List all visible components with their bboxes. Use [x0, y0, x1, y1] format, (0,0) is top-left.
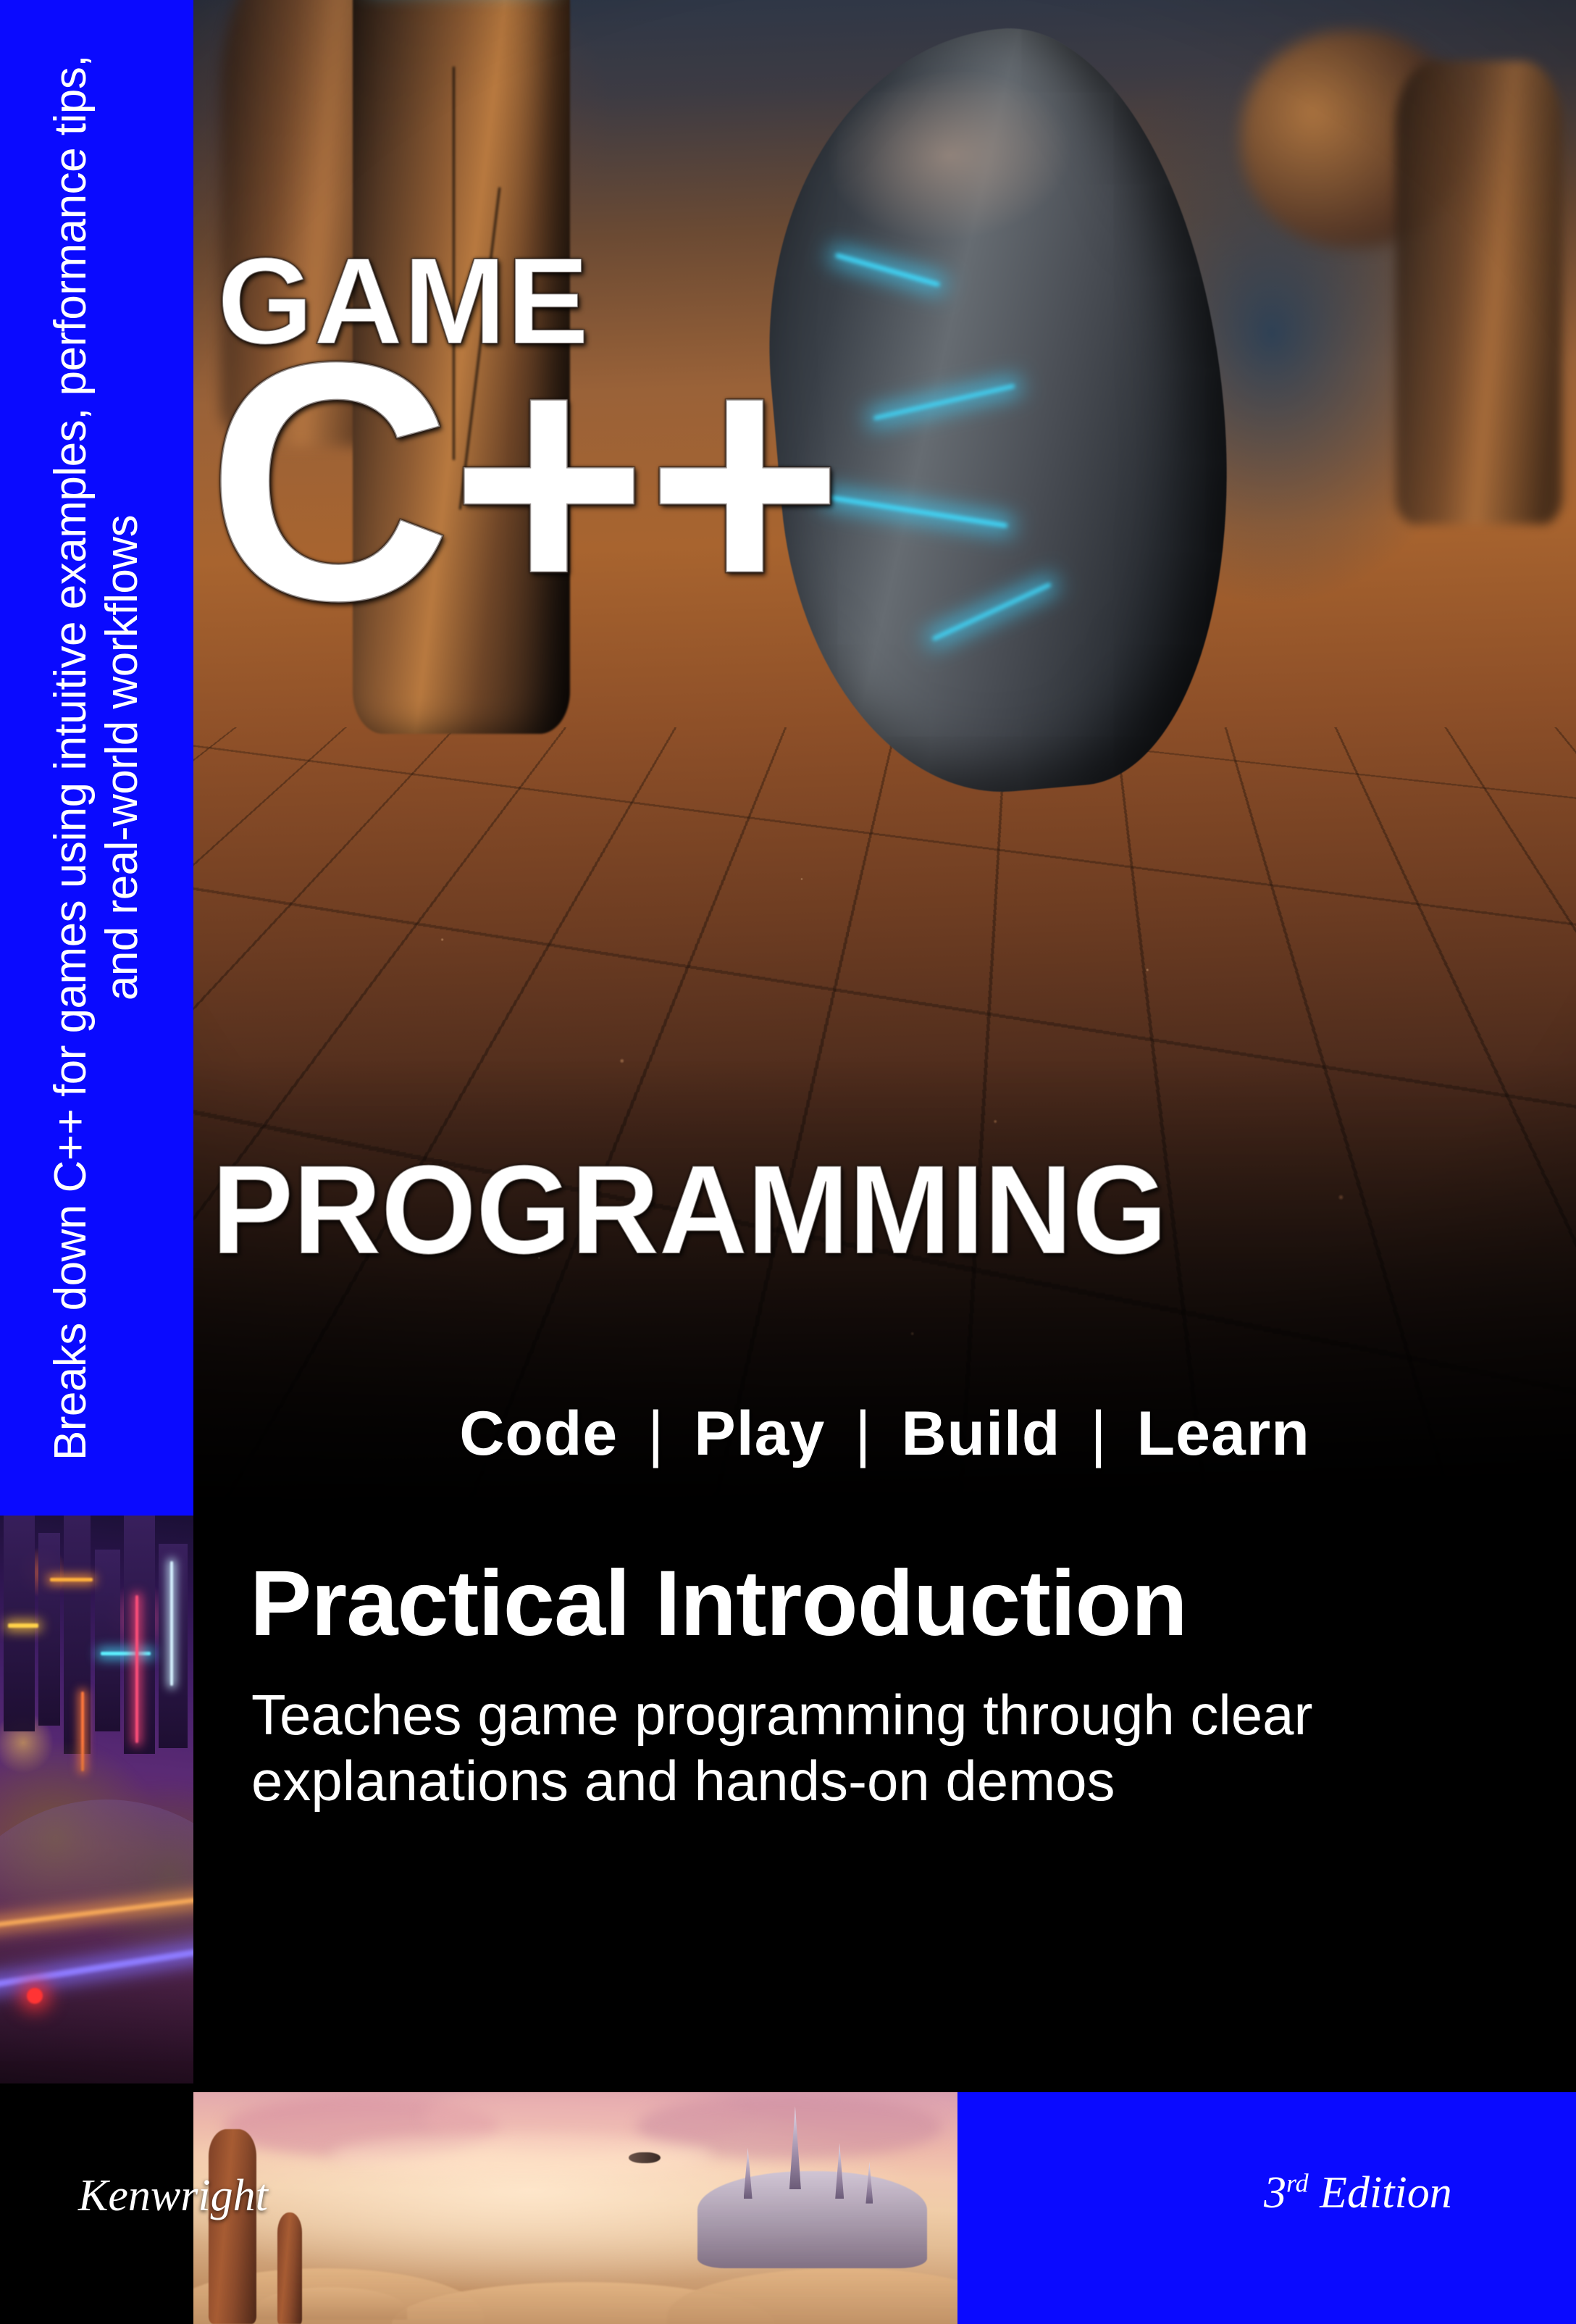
spine-blurb: Breaks down C++ for games using intuitiv…	[46, 41, 148, 1475]
edition-number: 3	[1264, 2168, 1286, 2218]
title-line-programming: PROGRAMMING	[211, 1137, 1167, 1283]
tagline-separator-2: |	[843, 1399, 883, 1468]
spacecraft-icon	[629, 2152, 661, 2163]
tagline-item-build: Build	[901, 1399, 1060, 1468]
edition-ordinal: rd	[1286, 2168, 1309, 2197]
tagline-item-learn: Learn	[1137, 1399, 1310, 1468]
spine-panel: Breaks down C++ for games using intuitiv…	[0, 0, 193, 1516]
footer-strip: Kenwright 3rd Edition	[0, 2083, 1576, 2324]
highway-shape	[0, 1800, 193, 2061]
cover-description: Teaches game programming through clear e…	[251, 1682, 1483, 1815]
book-cover: Breaks down C++ for games using intuitiv…	[0, 0, 1576, 2324]
tagline-row: Code | Play | Build | Learn	[193, 1398, 1576, 1470]
tagline-separator-3: |	[1078, 1399, 1118, 1468]
tagline-separator-1: |	[636, 1399, 676, 1468]
tagline-item-code: Code	[459, 1399, 618, 1468]
author-name: Kenwright	[78, 2170, 268, 2222]
tagline-item-play: Play	[694, 1399, 825, 1468]
subtitle-panel: Practical Introduction Teaches game prog…	[193, 1516, 1576, 2083]
cityscape-artwork	[0, 1516, 193, 2083]
desert-citadel-artwork	[193, 2092, 957, 2324]
title-line-cpp: C++	[206, 312, 841, 652]
cover-subtitle: Practical Introduction	[250, 1550, 1187, 1657]
hero-chess-artwork: GAME C++ PROGRAMMING Code | Play | Build…	[193, 0, 1576, 1516]
spine-text-wrapper: Breaks down C++ for games using intuitiv…	[14, 33, 180, 1482]
edition-label: 3rd Edition	[1264, 2168, 1452, 2219]
title-stack: GAME C++ PROGRAMMING Code | Play | Build…	[193, 0, 1576, 1516]
edition-word: Edition	[1320, 2168, 1452, 2218]
